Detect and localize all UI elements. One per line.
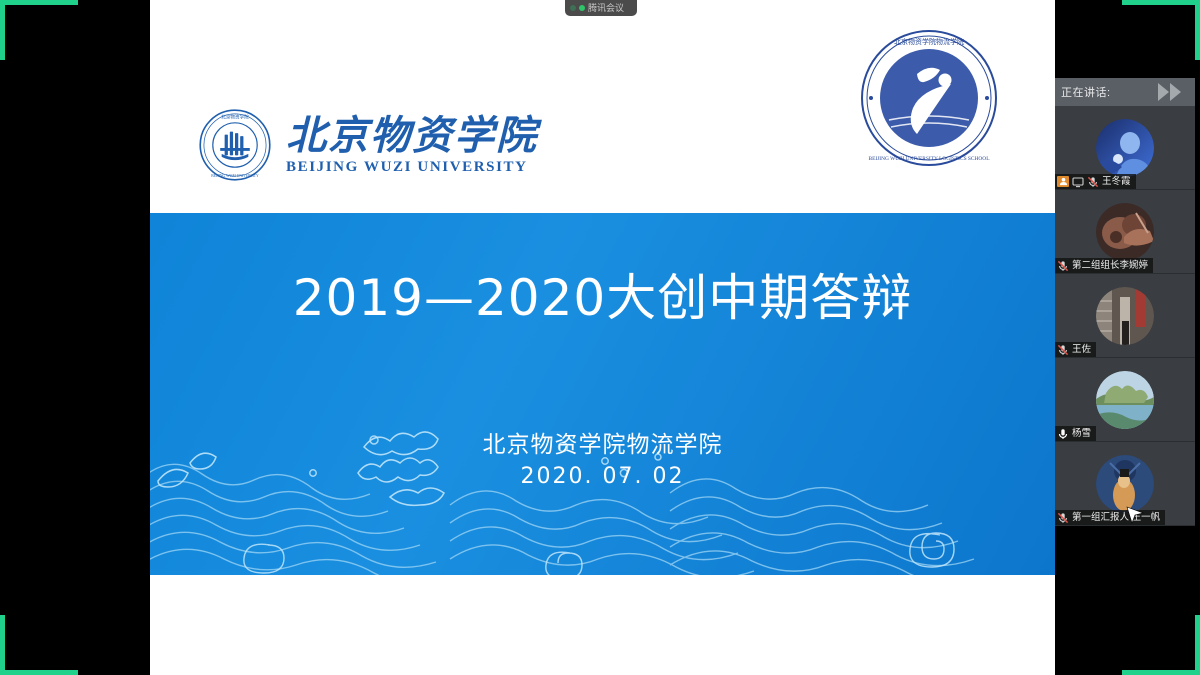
participant-name: 杨雪 (1072, 426, 1091, 441)
traffic-light-dot-1[interactable] (570, 5, 576, 11)
logistics-school-seal-icon: 北京物资学院物流学院 BEIJING WUZI UNIVERSITY LOGIS… (859, 28, 999, 168)
svg-text:BEIJING WUZI UNIVERSITY LOGIST: BEIJING WUZI UNIVERSITY LOGISTICS SCHOOL (869, 156, 990, 162)
participant-name: 王佐 (1072, 342, 1091, 357)
participant-name-chip: 王佐 (1055, 342, 1096, 357)
slide-footer (150, 575, 1055, 675)
speaking-status-bar: 正在讲话: (1055, 78, 1195, 106)
participant-tile[interactable]: 王冬霞 (1055, 106, 1195, 190)
mic-muted-icon (1057, 344, 1069, 356)
slide-title: 2019—2020大创中期答辩 (150, 258, 1055, 330)
university-logo: 北京物资学院 BEIJING WUZI UNIVERSITY 北京物资学院 BE… (198, 108, 538, 182)
participant-tile[interactable]: 第二组组长李婉婷 (1055, 190, 1195, 274)
slide-banner: 2019—2020大创中期答辩 北京物资学院物流学院 2020. 07. 02 (150, 213, 1055, 575)
participant-name-chip: 杨雪 (1055, 426, 1096, 441)
avatar (1096, 287, 1154, 345)
svg-text:北京物资学院: 北京物资学院 (221, 113, 249, 120)
participant-name: 第一组汇报人 王一帆 (1072, 510, 1160, 525)
pointer-arrow-icon (1125, 505, 1145, 525)
speaking-label: 正在讲话: (1061, 84, 1111, 100)
avatar (1096, 371, 1154, 429)
avatar (1096, 119, 1154, 177)
university-wordmark: 北京物资学院 BEIJING WUZI UNIVERSITY (286, 115, 538, 176)
participant-name: 第二组组长李婉婷 (1072, 258, 1148, 273)
university-name-cn: 北京物资学院 (286, 115, 538, 157)
mic-muted-icon (1087, 176, 1099, 188)
svg-text:北京物资学院物流学院: 北京物资学院物流学院 (894, 37, 964, 46)
slide-date: 2020. 07. 02 (150, 464, 1055, 489)
app-titlebar-pill[interactable]: 腾讯会议 (565, 0, 637, 16)
university-name-en: BEIJING WUZI UNIVERSITY (286, 159, 528, 176)
chevron-collapse-icon[interactable] (1158, 83, 1181, 101)
host-icon (1057, 176, 1069, 187)
participant-name-chip: 第一组汇报人 王一帆 (1055, 510, 1165, 525)
right-gutter-bottom (1055, 528, 1200, 675)
share-border-corner-bottom-left (0, 615, 78, 675)
shared-slide: 北京物资学院 BEIJING WUZI UNIVERSITY 北京物资学院 BE… (150, 0, 1055, 675)
share-border-corner-top-left (0, 0, 78, 60)
share-border-left-edge (0, 0, 5, 675)
screen-share-icon (1072, 176, 1084, 188)
participant-tile[interactable]: 王佐 (1055, 274, 1195, 358)
participant-name: 王冬霞 (1102, 174, 1131, 189)
avatar (1096, 203, 1154, 261)
meeting-screen: 北京物资学院 BEIJING WUZI UNIVERSITY 北京物资学院 BE… (0, 0, 1200, 675)
svg-text:BEIJING WUZI UNIVERSITY: BEIJING WUZI UNIVERSITY (211, 174, 259, 178)
participant-name-chip: 第二组组长李婉婷 (1055, 258, 1153, 273)
right-gutter-top (1055, 0, 1200, 78)
traffic-light-dot-2[interactable] (579, 5, 585, 11)
app-name-label: 腾讯会议 (588, 0, 624, 16)
slide-subtitle: 北京物资学院物流学院 (150, 425, 1055, 459)
university-seal-icon: 北京物资学院 BEIJING WUZI UNIVERSITY (198, 108, 272, 182)
avatar (1096, 455, 1154, 513)
slide-header: 北京物资学院 BEIJING WUZI UNIVERSITY 北京物资学院 BE… (150, 0, 1055, 213)
mic-muted-icon (1057, 512, 1069, 524)
participant-name-chip: 王冬霞 (1055, 174, 1136, 189)
mic-unmuted-icon (1057, 428, 1069, 440)
mic-muted-icon (1057, 260, 1069, 272)
participant-filmstrip: 正在讲话: (1055, 78, 1195, 528)
participant-tile[interactable]: 杨雪 (1055, 358, 1195, 442)
